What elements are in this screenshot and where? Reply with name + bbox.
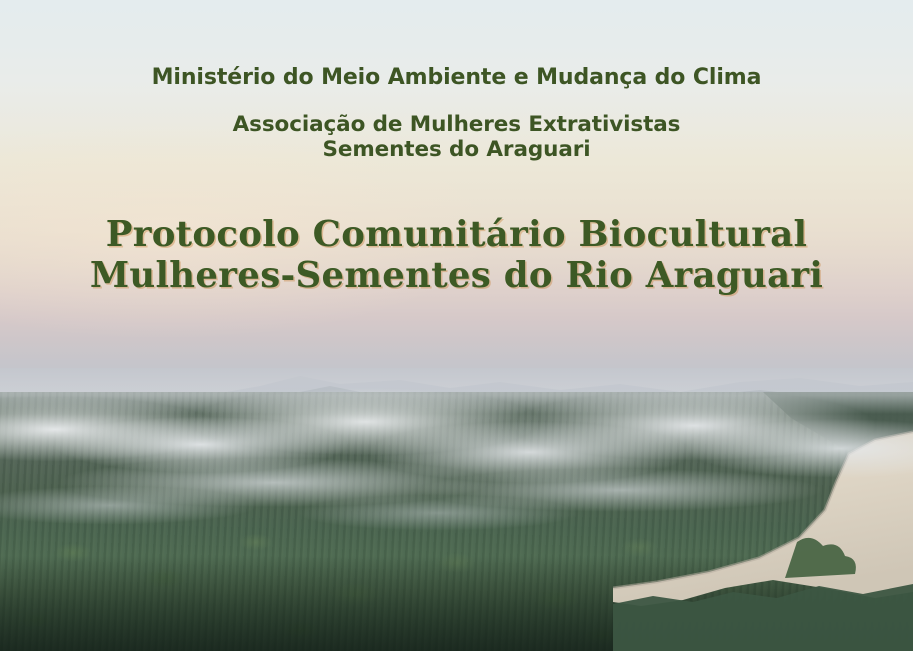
page-title-line1: Protocolo Comunitário Biocultural (0, 214, 913, 255)
canopy-striping (0, 392, 913, 651)
cover-text-block: Ministério do Meio Ambiente e Mudança do… (0, 0, 913, 400)
association-heading: Associação de Mulheres Extrativistas Sem… (0, 112, 913, 162)
cover-page: Ministério do Meio Ambiente e Mudança do… (0, 0, 913, 651)
page-title: Protocolo Comunitário Biocultural Mulher… (0, 214, 913, 296)
forest-shadow-band (0, 555, 913, 651)
canopy-texture (0, 392, 913, 651)
forest-canopy-photo (0, 392, 913, 651)
association-heading-line1: Associação de Mulheres Extrativistas (233, 112, 681, 137)
page-title-line2: Mulheres-Sementes do Rio Araguari (0, 255, 913, 296)
ministry-heading: Ministério do Meio Ambiente e Mudança do… (0, 63, 913, 93)
association-heading-line2: Sementes do Araguari (0, 137, 913, 162)
